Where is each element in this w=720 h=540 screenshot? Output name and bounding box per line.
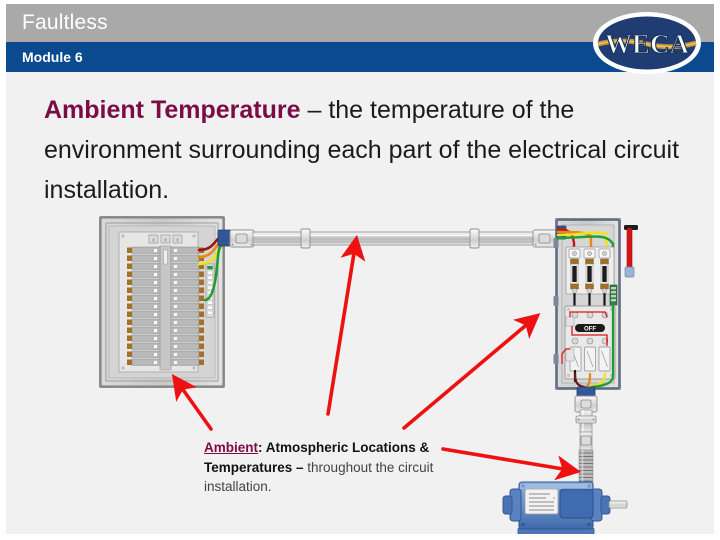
disconnect-switch: OFF: [562, 306, 615, 379]
conduit-run: [230, 229, 557, 248]
load-center-panel: x x x: [99, 216, 231, 388]
panel-conduit-hub: [218, 230, 231, 246]
callout-caption: Ambient: Atmospheric Locations & Tempera…: [204, 438, 434, 497]
arrow-to-conduit: [328, 247, 355, 414]
disconnect-handle: [624, 225, 638, 277]
arrow-to-panel: [179, 384, 211, 429]
fused-disconnect-enclosure: OFF: [554, 218, 639, 412]
disconnect-switch-label: OFF: [584, 327, 596, 333]
terminal-block: [610, 285, 617, 305]
arrow-to-disconnect: [404, 321, 531, 428]
fuse-block: [566, 247, 614, 294]
motor: [503, 482, 627, 534]
arrow-to-motor: [443, 449, 569, 470]
caption-term: Ambient: [204, 440, 258, 455]
slide: Faultless Module 6 WECA Ambient Temperat…: [0, 0, 720, 540]
